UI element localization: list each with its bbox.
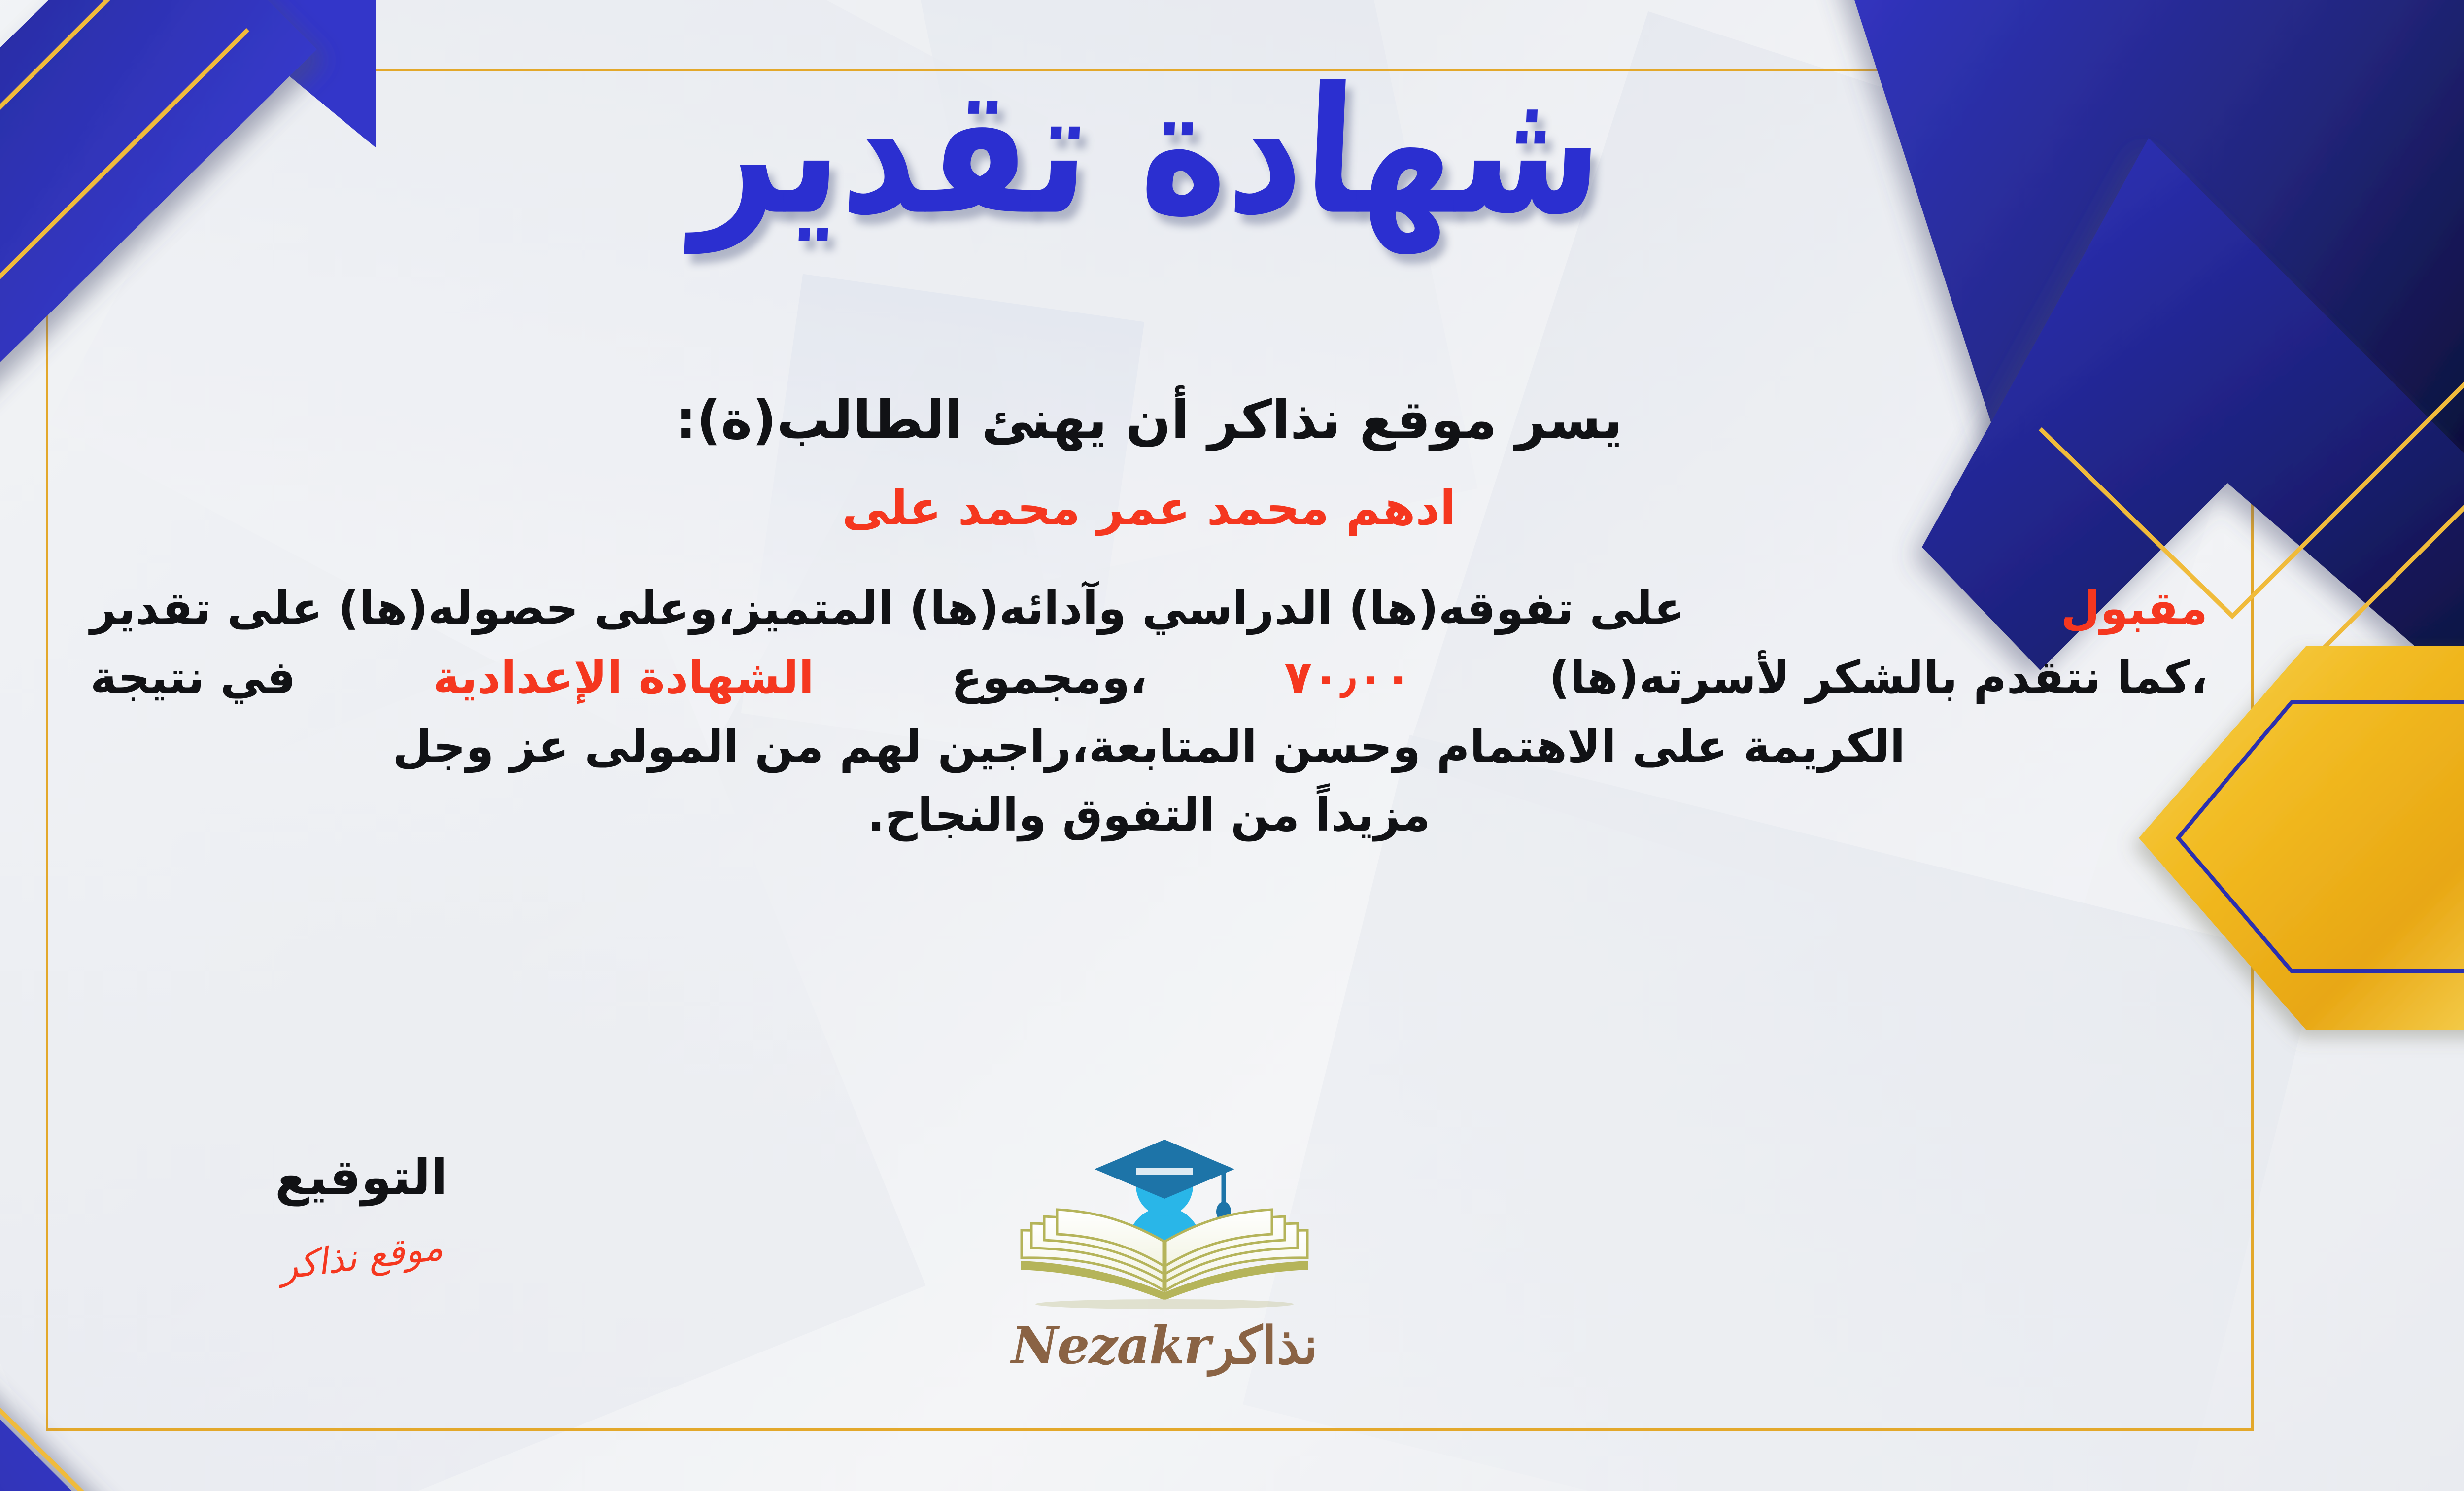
citation-line-2: ،كما نتقدم بالشكر لأسرته(ها) ٧٠٫٠٠ ،ومجم… [90, 643, 2208, 712]
logo-latin: Nezakr [1011, 1315, 1210, 1376]
student-name: ادهم محمد عمر محمد على [90, 481, 2208, 536]
total-score-value: ٧٠٫٠٠ [1284, 643, 1412, 712]
certificate-body: يسر موقع نذاكر أن يهنئ الطالب(ة): ادهم م… [90, 389, 2208, 850]
grade-value: مقبول [2061, 574, 2208, 643]
citation-paragraph: مقبول على تفوقه(ها) الدراسي وآدائه(ها) ا… [90, 574, 2208, 850]
citation-line-3: الكريمة على الاهتمام وحسن المتابعة،راجين… [90, 712, 2208, 781]
signature-label: التوقيع [208, 1148, 514, 1206]
certificate-canvas: شهادة تقدير يسر موقع نذاكر أن يهنئ الطال… [0, 0, 2464, 1491]
citation-line-2-tail: ،كما نتقدم بالشكر لأسرته(ها) [1549, 643, 2208, 712]
citation-line-2-head: في نتيجة [90, 643, 296, 712]
signature-block: التوقيع موقع نذاكر [208, 1148, 514, 1278]
citation-line-1-text: على تفوقه(ها) الدراسي وآدائه(ها) المتميز… [90, 574, 1685, 643]
logo-wordmark: نذاكرNezakr [977, 1315, 1352, 1376]
logo-arabic: نذاكر [1210, 1315, 1318, 1376]
graduate-open-book-icon [992, 1134, 1337, 1311]
citation-line-1: مقبول على تفوقه(ها) الدراسي وآدائه(ها) ا… [90, 574, 2208, 643]
citation-line-2-mid: ،ومجموع [951, 643, 1147, 712]
gold-frame-bottom [46, 1428, 2254, 1431]
greeting-line: يسر موقع نذاكر أن يهنئ الطالب(ة): [90, 389, 2208, 451]
citation-line-4: مزيداً من التفوق والنجاح. [90, 781, 2208, 850]
site-logo: نذاكرNezakr [977, 1134, 1352, 1376]
exam-name-value: الشهادة الإعدادية [433, 643, 814, 712]
